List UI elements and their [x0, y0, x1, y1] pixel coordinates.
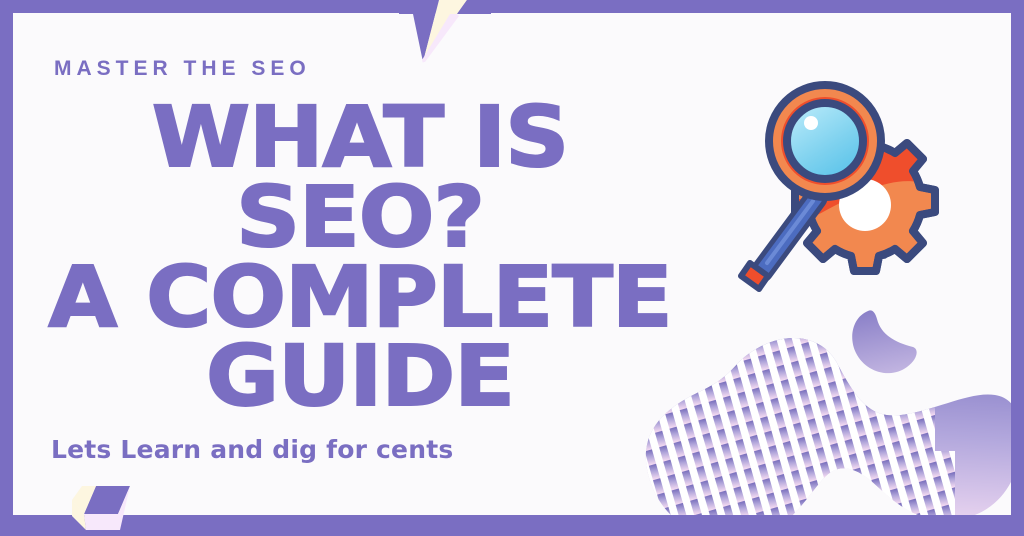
- headline-line-1: WHAT IS SEO?: [21, 98, 699, 258]
- magnifier-gear-icon: [741, 75, 957, 301]
- eyebrow-label: MASTER THE SEO: [54, 57, 680, 80]
- pencil-tip-pink: [457, 0, 491, 14]
- subtitle-text: Lets Learn and dig for cents: [51, 435, 453, 464]
- headline-group: MASTER THE SEO WHAT IS SEO? A COMPLETE G…: [40, 57, 680, 417]
- lens-highlight: [804, 116, 818, 130]
- seo-icon-svg: [741, 75, 957, 301]
- magnifier-lens: [769, 85, 881, 197]
- crescent-leaf-shape: [852, 310, 916, 373]
- seo-banner: MASTER THE SEO WHAT IS SEO? A COMPLETE G…: [0, 0, 1024, 536]
- headline-line-2: A COMPLETE: [21, 258, 699, 338]
- blob-solid: [646, 338, 1011, 515]
- banner-canvas: MASTER THE SEO WHAT IS SEO? A COMPLETE G…: [13, 13, 1011, 515]
- page-title: WHAT IS SEO? A COMPLETE GUIDE: [21, 98, 699, 417]
- headline-line-3: GUIDE: [21, 337, 699, 417]
